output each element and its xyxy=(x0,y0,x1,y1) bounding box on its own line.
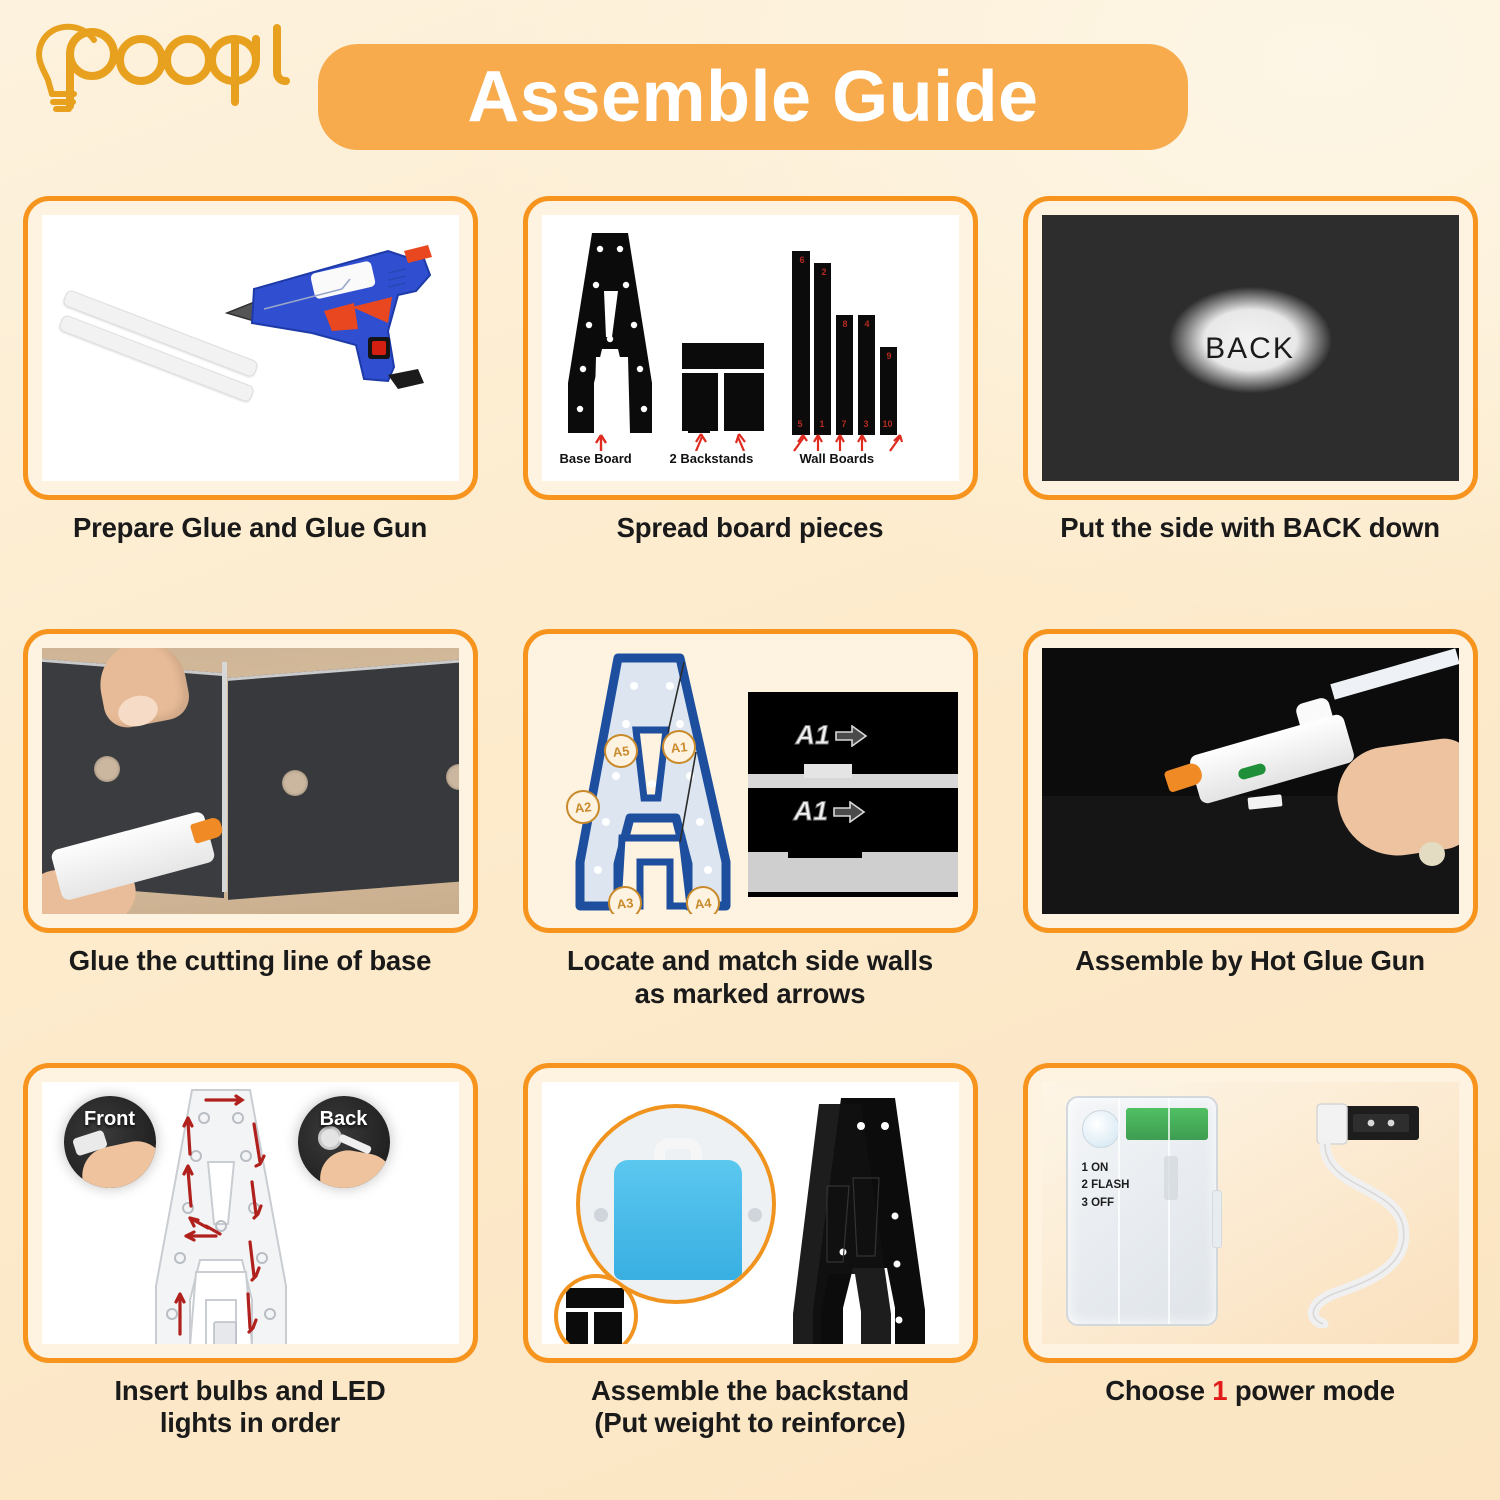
backstand-left-piece xyxy=(566,1312,588,1344)
step-6-image xyxy=(1042,648,1459,914)
arrow-label-a1-bottom: A1 xyxy=(794,796,867,827)
front-inset: Front xyxy=(64,1096,156,1188)
page-title: Assemble Guide xyxy=(467,61,1038,133)
step-4-frame xyxy=(23,629,478,933)
step-8-caption-line2: (Put weight to reinforce) xyxy=(591,1407,909,1439)
power-mode-on: 1 ON xyxy=(1082,1160,1130,1178)
step-6-caption: Assemble by Hot Glue Gun xyxy=(1075,945,1425,977)
backstand-arrows-icon xyxy=(688,431,758,451)
wall-board-2-1 xyxy=(814,263,831,435)
wall-number-top: 9 xyxy=(887,351,892,361)
step-1-image xyxy=(42,215,459,481)
brand-logo xyxy=(22,14,312,124)
step-card-6: Assemble by Hot Glue Gun xyxy=(1000,629,1500,1062)
back-label: Back xyxy=(298,1108,390,1131)
step-card-1: Prepare Glue and Glue Gun xyxy=(0,196,500,629)
battery-circuit-board xyxy=(1126,1108,1208,1140)
step-7-frame: Front Back xyxy=(23,1063,478,1363)
step-5-image: A5 A1 A2 A3 A4 A1 xyxy=(542,648,959,914)
base-board-label: Base Board xyxy=(560,451,632,466)
coin-weight xyxy=(1419,842,1445,866)
step-3-image: BACK xyxy=(1042,215,1459,481)
step-9-image: 1 ON 2 FLASH 3 OFF xyxy=(1042,1082,1459,1344)
battery-seam xyxy=(1168,1098,1170,1324)
wall-boards-label: Wall Boards xyxy=(800,451,875,466)
step-1-frame xyxy=(23,196,478,500)
wall-number-bottom: 5 xyxy=(798,419,803,429)
base-board-shape xyxy=(556,233,664,433)
step-card-9: 1 ON 2 FLASH 3 OFF Choose xyxy=(1000,1063,1500,1496)
step-card-3: BACK Put the side with BACK down xyxy=(1000,196,1500,629)
step-card-4: Glue the cutting line of base xyxy=(0,629,500,1062)
board-bottom-strip xyxy=(748,852,958,892)
backstand-piece xyxy=(724,373,764,431)
usb-cable-icon xyxy=(1263,1098,1453,1328)
wall-tab xyxy=(804,764,852,778)
wall-number-top: 4 xyxy=(865,319,870,329)
step-8-image xyxy=(542,1082,959,1344)
back-marking-text: BACK xyxy=(1042,332,1459,366)
steps-grid: Prepare Glue and Glue Gun xyxy=(0,196,1500,1496)
backstand-piece xyxy=(682,343,764,369)
letter-a-assembly-icon xyxy=(558,652,740,912)
backstand-top-piece xyxy=(566,1288,624,1308)
black-backstand-icon xyxy=(783,1092,943,1344)
step-9-caption-highlight: 1 xyxy=(1212,1375,1227,1406)
step-2-caption: Spread board pieces xyxy=(617,512,884,544)
step-5-caption: Locate and match side walls as marked ar… xyxy=(567,945,933,1010)
step-5-frame: A5 A1 A2 A3 A4 A1 xyxy=(523,629,978,933)
step-card-5: A5 A1 A2 A3 A4 A1 xyxy=(500,629,1000,1062)
wall-board-4-3 xyxy=(858,315,875,435)
cutting-line-seam xyxy=(222,662,227,892)
a1-text: A1 xyxy=(794,796,829,827)
arrow-label-a1-top: A1 xyxy=(796,720,869,751)
wall-number-bottom: 10 xyxy=(883,419,893,429)
step-7-caption-line2: lights in order xyxy=(114,1407,385,1439)
wall-number-top: 2 xyxy=(822,267,827,277)
right-arrow-icon xyxy=(832,801,866,823)
glue-gun-icon xyxy=(192,227,452,417)
step-7-caption: Insert bulbs and LED lights in order xyxy=(114,1375,385,1440)
wall-number-bottom: 1 xyxy=(820,419,825,429)
lightbulb-icon xyxy=(22,14,312,124)
backstand-right-piece xyxy=(594,1312,622,1344)
step-card-7: Front Back Insert bulbs and LED lights i… xyxy=(0,1063,500,1496)
screw-right xyxy=(748,1208,762,1222)
step-3-caption: Put the side with BACK down xyxy=(1060,512,1440,544)
bulb-hole xyxy=(94,756,120,782)
backstands-label: 2 Backstands xyxy=(670,451,754,466)
base-board-arrow-icon xyxy=(586,433,616,451)
a1-text: A1 xyxy=(796,720,831,751)
wall-edge-strip xyxy=(748,774,958,788)
page-header: Assemble Guide xyxy=(0,0,1500,190)
power-mode-flash: 2 FLASH xyxy=(1082,1177,1130,1195)
wall-board-6-5 xyxy=(792,251,810,435)
step-8-caption-line1: Assemble the backstand xyxy=(591,1375,909,1407)
power-mode-list: 1 ON 2 FLASH 3 OFF xyxy=(1082,1160,1130,1213)
base-panel-right xyxy=(228,658,459,900)
wall-number-top: 6 xyxy=(800,255,805,265)
wall-number-top: 8 xyxy=(843,319,848,329)
step-4-caption: Glue the cutting line of base xyxy=(69,945,431,977)
step-9-caption-suffix: power mode xyxy=(1227,1375,1394,1406)
step-5-caption-line1: Locate and match side walls xyxy=(567,945,933,977)
wall-board-8-7 xyxy=(836,315,853,435)
step-8-frame xyxy=(523,1063,978,1363)
letter-a-bulb-order-icon xyxy=(146,1086,296,1344)
power-mode-off: 3 OFF xyxy=(1082,1195,1130,1213)
bulb-hole xyxy=(282,770,308,796)
step-card-2: Base Board 2 Backstands xyxy=(500,196,1000,629)
step-8-caption: Assemble the backstand (Put weight to re… xyxy=(591,1375,909,1440)
wall-boards-arrows-icon xyxy=(790,433,910,453)
step-5-caption-line2: as marked arrows xyxy=(567,978,933,1010)
back-inset: Back xyxy=(298,1096,390,1188)
water-bag-weight xyxy=(614,1160,742,1280)
step-9-caption-prefix: Choose xyxy=(1105,1375,1212,1406)
step-card-8: Assemble the backstand (Put weight to re… xyxy=(500,1063,1000,1496)
wall-number-bottom: 3 xyxy=(864,419,869,429)
screw-left xyxy=(594,1208,608,1222)
step-3-frame: BACK xyxy=(1023,196,1478,500)
step-9-frame: 1 ON 2 FLASH 3 OFF xyxy=(1023,1063,1478,1363)
wall-number-bottom: 7 xyxy=(842,419,847,429)
battery-box: 1 ON 2 FLASH 3 OFF xyxy=(1066,1096,1218,1326)
step-4-image xyxy=(42,648,459,914)
step-2-image: Base Board 2 Backstands xyxy=(542,215,959,481)
step-1-caption: Prepare Glue and Glue Gun xyxy=(73,512,427,544)
battery-latch xyxy=(1212,1190,1222,1248)
step-6-frame xyxy=(1023,629,1478,933)
right-arrow-icon xyxy=(834,725,868,747)
battery-spring xyxy=(1164,1156,1178,1200)
title-banner: Assemble Guide xyxy=(318,44,1188,150)
step-7-caption-line1: Insert bulbs and LED xyxy=(114,1375,385,1407)
battery-knob-icon xyxy=(1082,1110,1120,1148)
step-2-frame: Base Board 2 Backstands xyxy=(523,196,978,500)
front-label: Front xyxy=(64,1108,156,1131)
weight-closeup-inset xyxy=(576,1104,776,1304)
wall-notch xyxy=(788,842,862,858)
step-7-image: Front Back xyxy=(42,1082,459,1344)
hand-back xyxy=(315,1146,389,1188)
side-wall-match-photo: A1 A1 xyxy=(748,692,958,897)
step-9-caption: Choose 1 power mode xyxy=(1105,1375,1395,1407)
